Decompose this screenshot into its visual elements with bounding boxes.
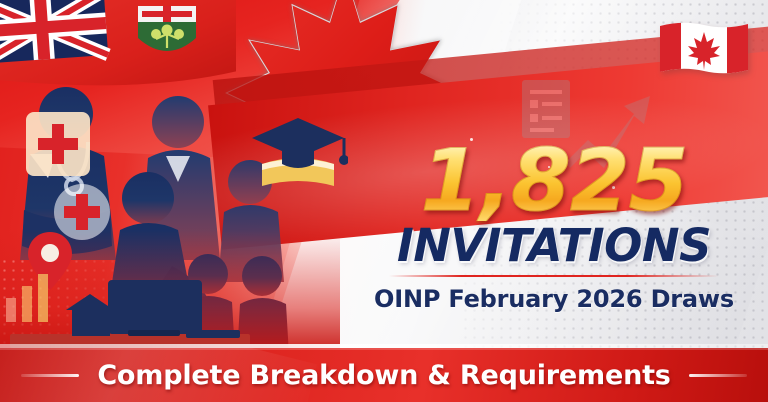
graduation-cap-icon xyxy=(248,112,348,196)
bottom-banner-text: Complete Breakdown & Requirements xyxy=(97,360,670,391)
dash-right xyxy=(689,374,747,377)
invitation-count: 1,825 xyxy=(352,142,756,221)
bar-chart-icon xyxy=(2,268,62,322)
dash-left xyxy=(21,374,79,377)
canada-flag-icon xyxy=(658,20,750,78)
oinp-draw-banner: 1,825 INVITATIONS OINP February 2026 Dra… xyxy=(0,0,768,402)
bottom-banner: Complete Breakdown & Requirements xyxy=(0,348,768,402)
monitor-icon xyxy=(108,280,202,336)
headline-divider xyxy=(389,275,719,277)
house-icon xyxy=(66,294,114,336)
keyboard-icon xyxy=(186,330,240,338)
headline-subtitle: OINP February 2026 Draws xyxy=(352,285,756,313)
headline-block: 1,825 INVITATIONS OINP February 2026 Dra… xyxy=(352,142,756,313)
medical-cross-icon xyxy=(22,108,94,180)
